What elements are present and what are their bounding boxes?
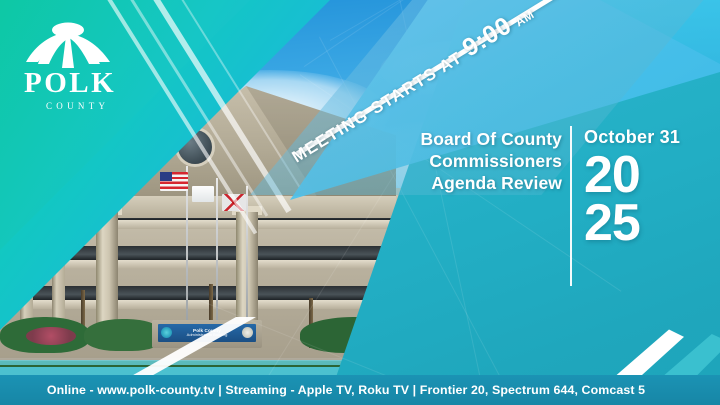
polk-county-logo: POLK COUNTY	[22, 22, 132, 110]
white-flag-icon	[192, 186, 214, 202]
meeting-title-line1: Board Of County	[366, 128, 562, 150]
meeting-year-bottom: 25	[584, 201, 704, 246]
meeting-title: Board Of County Commissioners Agenda Rev…	[366, 128, 562, 195]
united-states-flag-icon	[160, 172, 188, 191]
vertical-divider	[570, 126, 572, 286]
flower-bed	[26, 327, 76, 345]
meeting-year-top: 20	[584, 153, 704, 198]
polk-county-palm-logo-icon	[22, 22, 118, 68]
broadcast-info-text: Online - www.polk-county.tv | Streaming …	[47, 383, 645, 397]
meeting-title-line3: Agenda Review	[366, 172, 562, 194]
logo-subtitle: COUNTY	[46, 101, 132, 111]
logo-wordmark: POLK	[24, 69, 132, 98]
meeting-date-block: October 31 20 25	[584, 126, 704, 246]
broadcast-info-bar: Online - www.polk-county.tv | Streaming …	[0, 375, 720, 405]
broadcast-title-card: Polk County Administration Building MEET…	[0, 0, 720, 405]
meeting-title-line2: Commissioners	[366, 150, 562, 172]
